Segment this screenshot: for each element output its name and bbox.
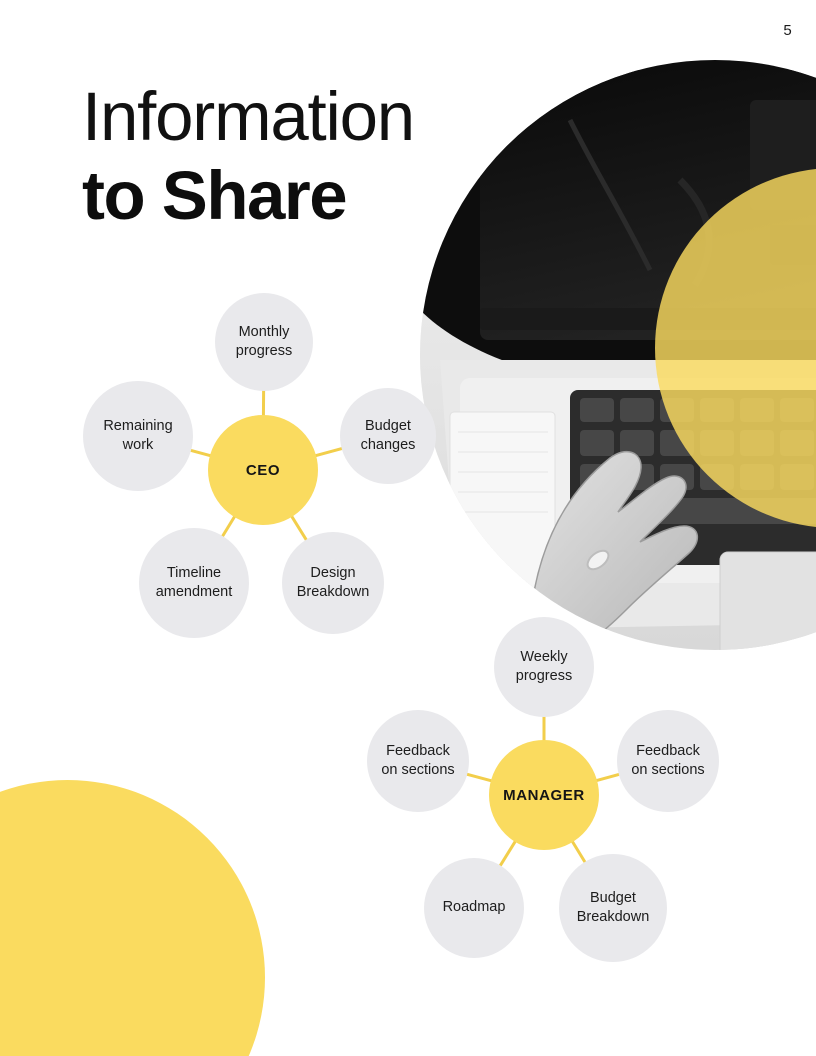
hub-bubble-manager[interactable]: MANAGER bbox=[489, 740, 599, 850]
satellite-bubble-manager-0[interactable]: Weeklyprogress bbox=[494, 617, 594, 717]
page-title: Information to Share bbox=[82, 82, 414, 230]
title-line-2: to Share bbox=[82, 161, 414, 230]
satellite-bubble-manager-3[interactable]: Roadmap bbox=[424, 858, 524, 958]
satellite-bubble-label: Roadmap bbox=[443, 898, 506, 917]
connector-manager-3 bbox=[499, 840, 516, 867]
connector-manager-2 bbox=[572, 840, 586, 863]
connector-manager-4 bbox=[465, 774, 493, 781]
satellite-bubble-label: Weeklyprogress bbox=[516, 648, 572, 686]
title-line-1: Information bbox=[82, 82, 414, 151]
satellite-bubble-label: BudgetBreakdown bbox=[577, 889, 650, 927]
satellite-bubble-manager-4[interactable]: Feedbackon sections bbox=[367, 710, 469, 812]
satellite-bubble-manager-2[interactable]: BudgetBreakdown bbox=[559, 854, 667, 962]
slide-canvas: 5 bbox=[0, 0, 816, 1056]
connector-manager-1 bbox=[595, 774, 621, 781]
satellite-bubble-label: Feedbackon sections bbox=[631, 742, 704, 780]
hub-bubble-label: MANAGER bbox=[503, 787, 585, 804]
satellite-bubble-manager-1[interactable]: Feedbackon sections bbox=[617, 710, 719, 812]
satellite-bubble-label: Feedbackon sections bbox=[381, 742, 454, 780]
